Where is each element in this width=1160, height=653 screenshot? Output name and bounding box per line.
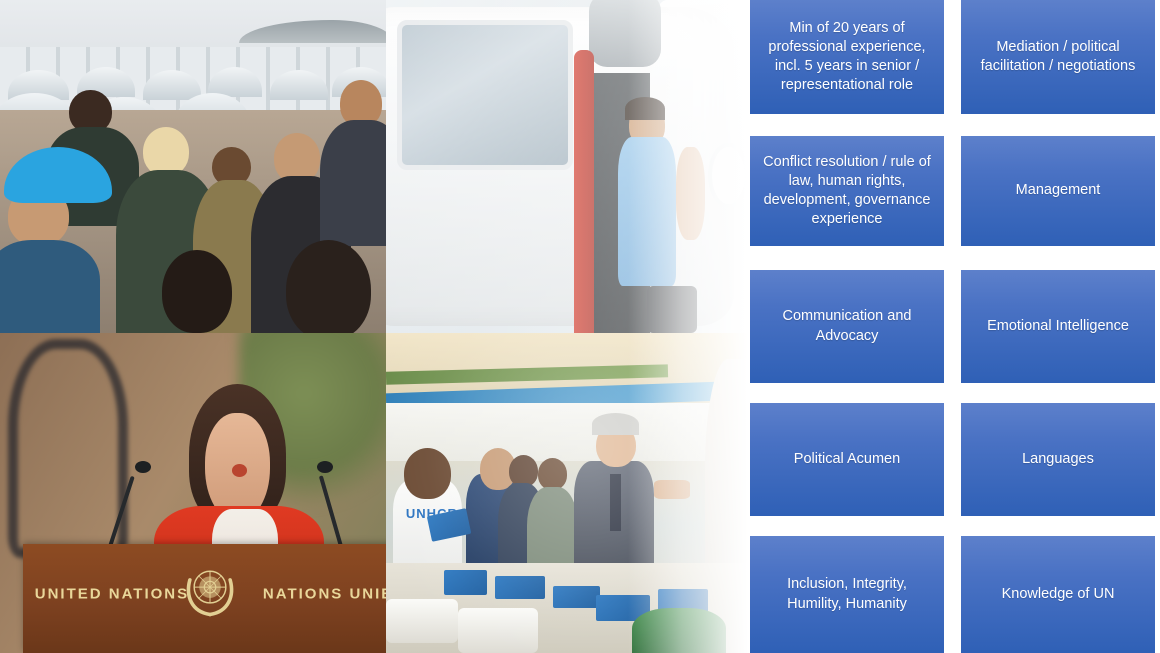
tile-label: Min of 20 years of professional experien… (762, 19, 932, 96)
tile-label: Knowledge of UN (1002, 585, 1115, 604)
tile-experience[interactable]: Min of 20 years of professional experien… (750, 0, 944, 114)
photo-refugee-camp-visit (0, 0, 386, 333)
competency-tile-grid: Min of 20 years of professional experien… (750, 0, 1160, 653)
tile-management[interactable]: Management (961, 136, 1155, 246)
tile-label: Inclusion, Integrity, Humility, Humanity (762, 575, 932, 613)
tile-label: Conflict resolution / rule of law, human… (762, 153, 932, 230)
tile-label: Emotional Intelligence (987, 317, 1129, 336)
photo-podium-address: UNITED NATIONS NATIONS UNIES (0, 333, 386, 653)
tile-communication-advocacy[interactable]: Communication and Advocacy (750, 270, 944, 383)
podium-text-right: NATIONS UNIES (263, 586, 386, 603)
tile-label: Communication and Advocacy (762, 307, 932, 345)
photo-field-distribution-handshake: UNHCR (386, 333, 748, 653)
tile-values[interactable]: Inclusion, Integrity, Humility, Humanity (750, 536, 944, 653)
tile-label: Languages (1022, 450, 1094, 469)
tile-languages[interactable]: Languages (961, 403, 1155, 516)
tile-knowledge-of-un[interactable]: Knowledge of UN (961, 536, 1155, 653)
tile-conflict-resolution[interactable]: Conflict resolution / rule of law, human… (750, 136, 944, 246)
un-emblem-icon (174, 554, 246, 626)
un-podium: UNITED NATIONS NATIONS UNIES (23, 544, 386, 653)
tile-label: Political Acumen (794, 450, 900, 469)
slide-canvas: UNITED NATIONS NATIONS UNIES (0, 0, 1160, 653)
tile-mediation[interactable]: Mediation / political facilitation / neg… (961, 0, 1155, 114)
tile-emotional-intelligence[interactable]: Emotional Intelligence (961, 270, 1155, 383)
tile-label: Mediation / political facilitation / neg… (973, 38, 1143, 76)
podium-text-left: UNITED NATIONS (35, 586, 189, 603)
photo-helicopter-field-mission (386, 0, 748, 333)
tile-political-acumen[interactable]: Political Acumen (750, 403, 944, 516)
photo-collage: UNITED NATIONS NATIONS UNIES (0, 0, 748, 653)
tile-label: Management (1016, 181, 1101, 200)
